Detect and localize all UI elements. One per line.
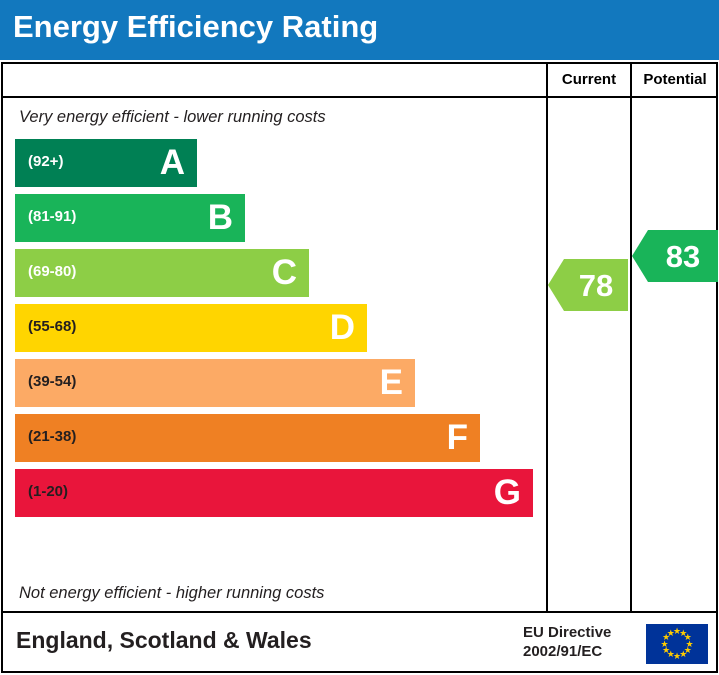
band-letter-g: G — [494, 472, 521, 514]
band-letter-d: D — [330, 307, 355, 349]
band-bar-d: (55-68) D — [15, 304, 367, 352]
chart-title-bar: Energy Efficiency Rating — [0, 0, 719, 60]
band-letter-a: A — [160, 142, 185, 184]
arrow-left-icon — [548, 259, 564, 311]
band-bar-c: (69-80) C — [15, 249, 309, 297]
header-divider — [3, 96, 716, 98]
page-title: Energy Efficiency Rating — [13, 9, 378, 45]
potential-rating-marker: 83 — [632, 230, 718, 282]
chart-footer: England, Scotland & Wales EU Directive 2… — [1, 613, 718, 673]
band-range-g: (1-20) — [28, 483, 68, 500]
band-range-b: (81-91) — [28, 208, 76, 225]
band-bar-f: (21-38) F — [15, 414, 480, 462]
column-header-current: Current — [548, 71, 630, 88]
eu-flag-icon: ★★★★★★★★★★★★ — [646, 624, 708, 664]
band-bar-e: (39-54) E — [15, 359, 415, 407]
band-letter-f: F — [447, 417, 468, 459]
band-letter-c: C — [272, 252, 297, 294]
column-divider-current — [546, 64, 548, 611]
eu-directive-line1: EU Directive — [523, 623, 611, 642]
current-rating-marker: 78 — [548, 259, 628, 311]
band-bar-a: (92+) A — [15, 139, 197, 187]
eu-directive-label: EU Directive 2002/91/EC — [523, 623, 611, 661]
caption-inefficient: Not energy efficient - higher running co… — [19, 584, 324, 603]
band-range-e: (39-54) — [28, 373, 76, 390]
caption-efficient: Very energy efficient - lower running co… — [19, 108, 326, 127]
epc-certificate-chart: Energy Efficiency Rating Current Potenti… — [0, 0, 719, 675]
band-letter-e: E — [380, 362, 403, 404]
band-bar-g: (1-20) G — [15, 469, 533, 517]
arrow-left-icon — [632, 230, 648, 282]
current-rating-value: 78 — [579, 270, 613, 301]
band-range-c: (69-80) — [28, 263, 76, 280]
star-icon: ★ — [666, 629, 675, 638]
band-bar-b: (81-91) B — [15, 194, 245, 242]
band-range-d: (55-68) — [28, 318, 76, 335]
band-letter-b: B — [208, 197, 233, 239]
potential-rating-value: 83 — [666, 241, 700, 272]
eu-directive-line2: 2002/91/EC — [523, 642, 611, 661]
column-divider-potential — [630, 64, 632, 611]
potential-rating-body: 83 — [648, 230, 718, 282]
region-label: England, Scotland & Wales — [16, 627, 312, 654]
column-header-potential: Potential — [632, 71, 718, 88]
current-rating-body: 78 — [564, 259, 628, 311]
band-range-f: (21-38) — [28, 428, 76, 445]
band-range-a: (92+) — [28, 153, 63, 170]
chart-body: Current Potential Very energy efficient … — [1, 62, 718, 613]
